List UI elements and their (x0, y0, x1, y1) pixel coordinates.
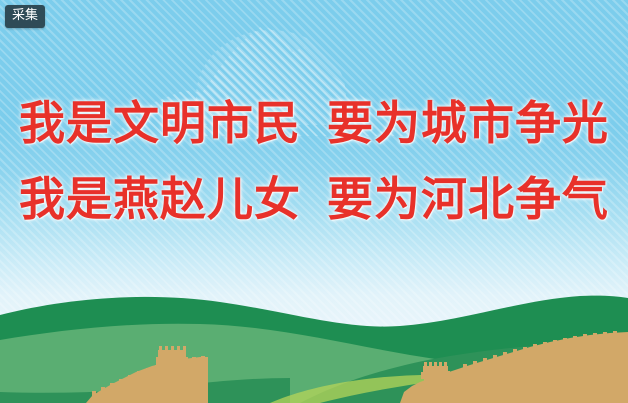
watchtower-right (421, 362, 450, 403)
capture-button[interactable]: 采集 (5, 5, 45, 28)
slogan-line-1: 我是文明市民要为城市争光 (0, 100, 628, 146)
slogan-line-2-part-1: 我是燕赵儿女 (19, 172, 301, 226)
watchtower-left (156, 346, 188, 403)
slogan-line-1-part-1: 我是文明市民 (19, 96, 301, 150)
slogan-line-1-part-2: 要为城市争光 (327, 96, 609, 150)
poster-canvas: 我是文明市民要为城市争光 我是燕赵儿女要为河北争气 采集 (0, 0, 628, 403)
slogan-line-2: 我是燕赵儿女要为河北争气 (0, 176, 628, 222)
slogan-line-2-part-2: 要为河北争气 (327, 172, 609, 226)
